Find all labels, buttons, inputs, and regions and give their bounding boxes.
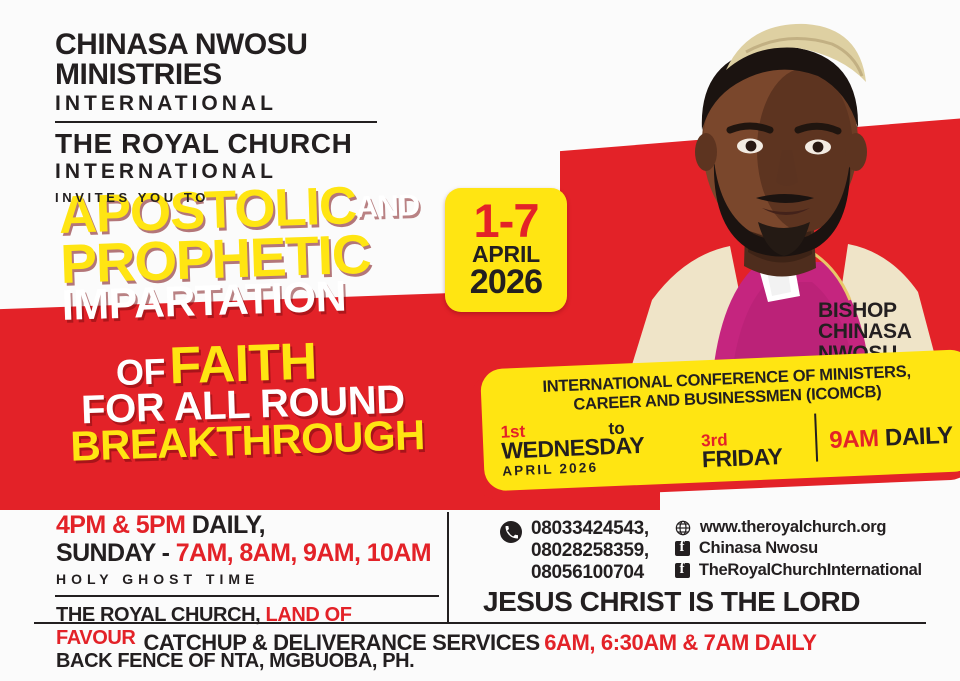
facebook-page-handle: TheRoyalChurchInternational: [699, 561, 922, 580]
church-name: THE ROYAL CHURCH: [55, 129, 455, 158]
sunday-service-row: SUNDAY - 7AM, 8AM, 9AM, 10AM: [56, 540, 436, 567]
conference-time-frequency: DAILY: [884, 422, 953, 452]
conference-connector: to: [608, 418, 625, 439]
conference-banner-card: INTERNATIONAL CONFERENCE OF MINISTERS, C…: [480, 349, 960, 491]
ministry-name-line2: MINISTRIES: [55, 60, 455, 90]
contact-block: 08033424543, 08028258359, 08056100704 ww…: [500, 518, 922, 585]
title-row-breakthrough: BREAKTHROUGH: [66, 415, 467, 465]
motto-text: JESUS CHRIST IS THE LORD: [483, 586, 860, 618]
footer-divider: [34, 622, 926, 624]
date-year: 2026: [470, 266, 542, 298]
conference-start: 1st to WEDNESDAY APRIL 2026: [500, 415, 702, 479]
invitation-label: INVITES YOU TO: [55, 190, 455, 205]
daily-service-row: 4PM & 5PM DAILY,: [56, 512, 436, 539]
conference-end-day: FRIDAY: [702, 444, 813, 470]
phone-numbers: 08033424543, 08028258359, 08056100704: [531, 518, 649, 585]
ministry-international-label: INTERNATIONAL: [55, 92, 455, 116]
date-badge: 1-7 APRIL 2026: [445, 188, 567, 312]
footer-label: CATCHUP & DELIVERANCE SERVICES: [143, 630, 539, 655]
phone-number-1: 08033424543,: [531, 518, 649, 540]
online-section: www.theroyalchurch.org Chinasa Nwosu The…: [675, 518, 922, 585]
facebook-icon: [675, 563, 690, 578]
sunday-dash: -: [162, 539, 170, 567]
conference-daily-time: 9AM DAILY: [829, 424, 960, 465]
header-divider: [55, 121, 377, 123]
conference-end: 3rd FRIDAY: [701, 427, 813, 470]
conference-banner: INTERNATIONAL CONFERENCE OF MINISTERS, C…: [470, 349, 960, 505]
holy-ghost-time-label: HOLY GHOST TIME: [56, 571, 436, 587]
footer-times: 6AM, 6:30AM & 7AM DAILY: [544, 630, 816, 655]
conference-time-value: 9AM: [829, 425, 880, 454]
header-block: CHINASA NWOSU MINISTRIES INTERNATIONAL T…: [55, 30, 455, 205]
daily-service-times: 4PM & 5PM: [56, 511, 185, 539]
date-range: 1-7: [474, 201, 539, 241]
phone-icon: [500, 521, 522, 543]
phone-number-2: 08028258359,: [531, 540, 649, 562]
title-row-impartation: IMPARTATION: [61, 275, 462, 326]
facebook-icon: [675, 541, 690, 556]
title-word-impartation: IMPARTATION: [61, 273, 347, 330]
event-flyer: CHINASA NWOSU MINISTRIES INTERNATIONAL T…: [0, 0, 960, 681]
phone-number-3: 08056100704: [531, 562, 649, 584]
bishop-title: BISHOP: [818, 300, 912, 321]
church-international-label: INTERNATIONAL: [55, 160, 455, 184]
sunday-service-times: 7AM, 8AM, 9AM, 10AM: [176, 539, 431, 567]
bottom-vertical-divider: [447, 512, 449, 622]
website-url: www.theroyalchurch.org: [700, 518, 886, 537]
daily-service-label: DAILY,: [192, 511, 265, 539]
website-row: www.theroyalchurch.org: [675, 518, 922, 537]
main-title-block: APOSTOLICAND PROPHETIC IMPARTATION OF FA…: [58, 180, 467, 466]
phone-section: 08033424543, 08028258359, 08056100704: [500, 518, 649, 585]
ministry-name-line1: CHINASA NWOSU: [55, 30, 455, 60]
facebook-personal-row: Chinasa Nwosu: [675, 539, 922, 558]
footer-bar: CATCHUP & DELIVERANCE SERVICES 6AM, 6:30…: [0, 630, 960, 656]
bishop-first-name: CHINASA: [818, 321, 912, 342]
facebook-page-row: TheRoyalChurchInternational: [675, 561, 922, 580]
facebook-personal-handle: Chinasa Nwosu: [699, 539, 818, 558]
schedule-divider: [55, 595, 439, 597]
globe-icon: [675, 520, 691, 536]
sunday-label: SUNDAY: [56, 539, 155, 567]
conference-vertical-divider: [814, 414, 818, 462]
